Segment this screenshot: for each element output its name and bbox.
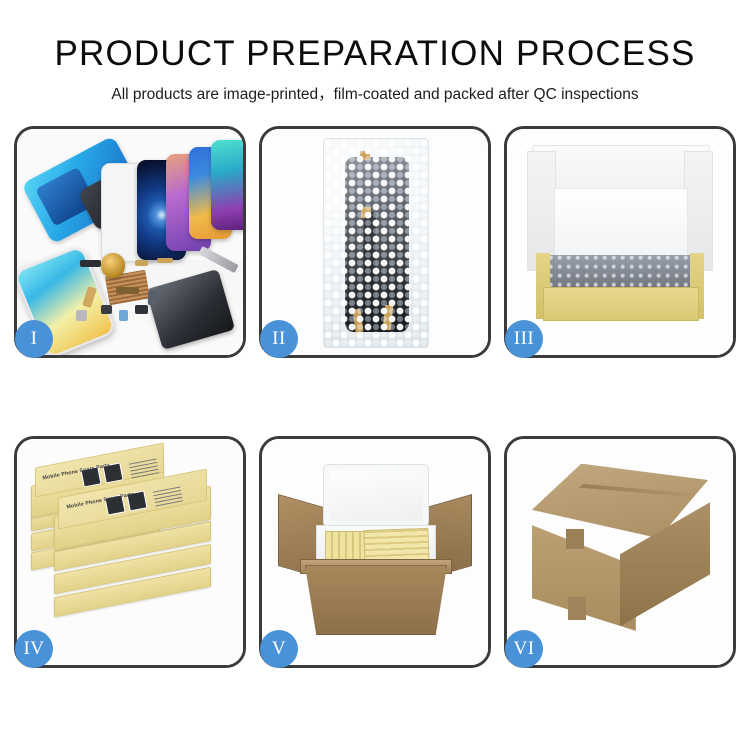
foam-cooler-lid-icon — [323, 464, 429, 527]
page-header: PRODUCT PREPARATION PROCESS All products… — [0, 0, 750, 104]
step-badge-2: II — [260, 320, 298, 358]
step-badge-5: V — [260, 630, 298, 668]
spare-part-icon — [135, 305, 149, 314]
step-5-image — [262, 439, 488, 665]
step-2-image — [262, 129, 488, 355]
step-badge-6: VI — [505, 630, 543, 668]
carton-tape-icon — [568, 597, 586, 620]
spare-part-icon — [76, 310, 87, 321]
step-3-image — [507, 129, 733, 355]
bubble-texture-icon — [324, 139, 428, 347]
phone-parts-scene — [17, 129, 243, 355]
page-subtitle: All products are image-printed，film-coat… — [0, 82, 750, 104]
carton-with-foam-cooler-scene — [262, 439, 488, 665]
spare-part-icon — [119, 310, 128, 321]
stacked-retail-boxes-scene: Mobile Phone Spare Parts Mobile Phone Sp… — [17, 439, 243, 665]
foam-lined-box-scene — [507, 129, 733, 355]
process-step-panel-6[interactable]: VI — [504, 436, 736, 668]
step-badge-4: IV — [15, 630, 53, 668]
page-title: PRODUCT PREPARATION PROCESS — [0, 36, 750, 73]
bubble-wrap-bag-icon — [323, 138, 429, 348]
bubble-wrapped-screen-scene — [262, 129, 488, 355]
spare-part-icon — [157, 258, 173, 264]
process-step-panel-4[interactable]: Mobile Phone Spare Parts Mobile Phone Sp… — [14, 436, 246, 668]
speaker-coil-icon — [101, 253, 126, 278]
carton-tape-icon — [566, 529, 584, 549]
step-4-image: Mobile Phone Spare Parts Mobile Phone Sp… — [17, 439, 243, 665]
process-step-panel-3[interactable]: III — [504, 126, 736, 358]
process-step-grid: I II — [14, 126, 736, 668]
spare-part-icon — [135, 260, 149, 266]
spare-part-icon — [80, 260, 100, 267]
spare-part-icon — [101, 305, 112, 314]
step-badge-3: III — [505, 320, 543, 358]
spare-part-icon — [116, 287, 139, 294]
spare-part-icon — [148, 291, 157, 305]
process-step-panel-1[interactable]: I — [14, 126, 246, 358]
sealed-carton-scene — [507, 439, 733, 665]
step-1-image — [17, 129, 243, 355]
step-6-image — [507, 439, 733, 665]
teal-lcd-screen-icon — [211, 140, 243, 230]
box-stack: Mobile Phone Spare Parts Mobile Phone Sp… — [31, 466, 230, 642]
carton-body-icon — [305, 565, 447, 635]
process-step-panel-2[interactable]: II — [259, 126, 491, 358]
step-badge-1: I — [15, 320, 53, 358]
yellow-box-front-icon — [543, 287, 699, 321]
process-step-panel-5[interactable]: V — [259, 436, 491, 668]
